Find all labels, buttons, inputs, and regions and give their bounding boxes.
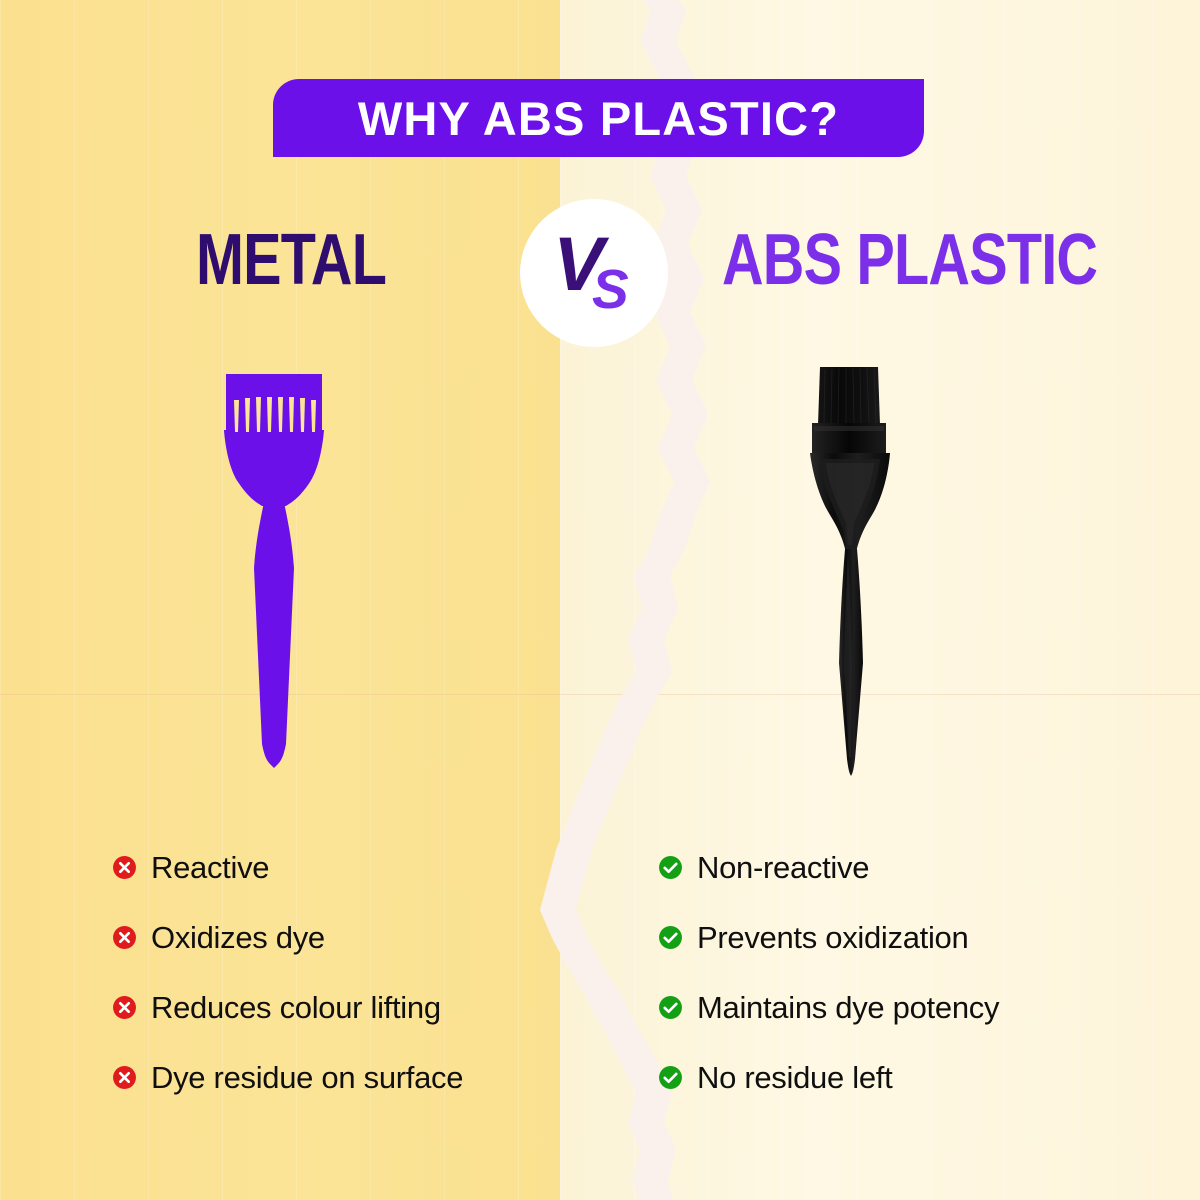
abs-plastic-feature-list: Non-reactive Prevents oxidization Mainta… [658,848,999,1096]
infographic-canvas: WHY ABS PLASTIC? METAL ABS PLASTIC VS [0,0,1200,1200]
list-item: No residue left [658,1058,999,1096]
page-title: WHY ABS PLASTIC? [358,91,839,146]
column-heading-abs-plastic: ABS PLASTIC [722,224,1097,296]
list-item-label: No residue left [697,1062,892,1093]
list-item-label: Dye residue on surface [151,1062,463,1093]
x-circle-icon [112,855,137,880]
check-circle-icon [658,995,683,1020]
list-item: Non-reactive [658,848,999,886]
metal-brush-illustration [212,372,336,772]
abs-plastic-brush-illustration [792,363,910,781]
list-item-label: Non-reactive [697,852,869,883]
x-circle-icon [112,1065,137,1090]
list-item: Dye residue on surface [112,1058,463,1096]
list-item: Oxidizes dye [112,918,463,956]
list-item-label: Maintains dye potency [697,992,999,1023]
list-item-label: Reactive [151,852,269,883]
check-circle-icon [658,925,683,950]
check-circle-icon [658,855,683,880]
list-item-label: Prevents oxidization [697,922,968,953]
metal-feature-list: Reactive Oxidizes dye Reduces colour lif… [112,848,463,1096]
versus-badge: VS [520,199,668,347]
check-circle-icon [658,1065,683,1090]
list-item: Reduces colour lifting [112,988,463,1026]
list-item: Maintains dye potency [658,988,999,1026]
list-item: Reactive [112,848,463,886]
versus-letter-s: S [592,262,629,317]
list-item-label: Reduces colour lifting [151,992,441,1023]
x-circle-icon [112,995,137,1020]
page-title-banner: WHY ABS PLASTIC? [273,79,924,157]
column-heading-metal: METAL [196,224,386,296]
list-item: Prevents oxidization [658,918,999,956]
x-circle-icon [112,925,137,950]
list-item-label: Oxidizes dye [151,922,325,953]
